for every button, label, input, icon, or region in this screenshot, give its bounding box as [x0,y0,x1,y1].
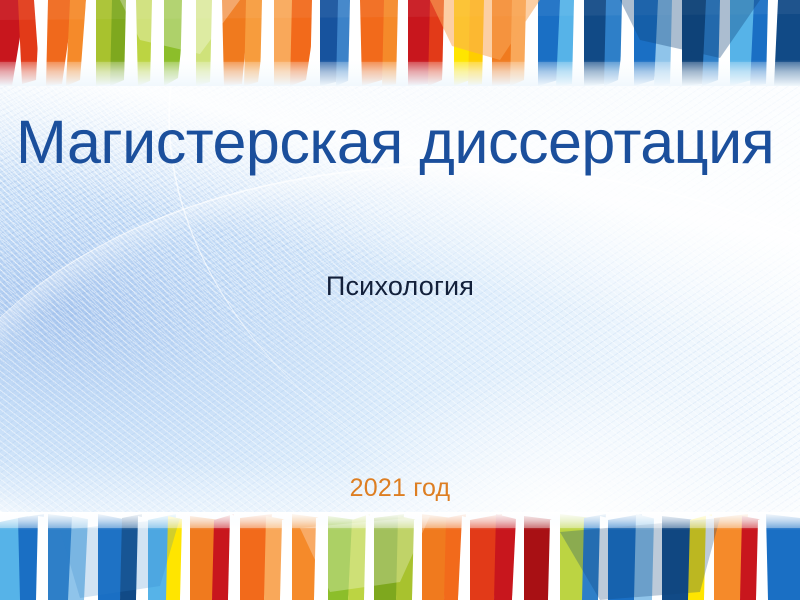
slide-subtitle: Психология [0,271,800,302]
slide-year: 2021 год [0,474,800,503]
slide-title: Магистерская диссертация [16,112,800,173]
band-top-fade [0,60,800,86]
decor-band-top [0,0,800,86]
title-slide: Магистерская диссертация Психология 2021… [0,0,800,600]
band-bottom-fade [0,512,800,530]
decor-band-bottom [0,512,800,600]
